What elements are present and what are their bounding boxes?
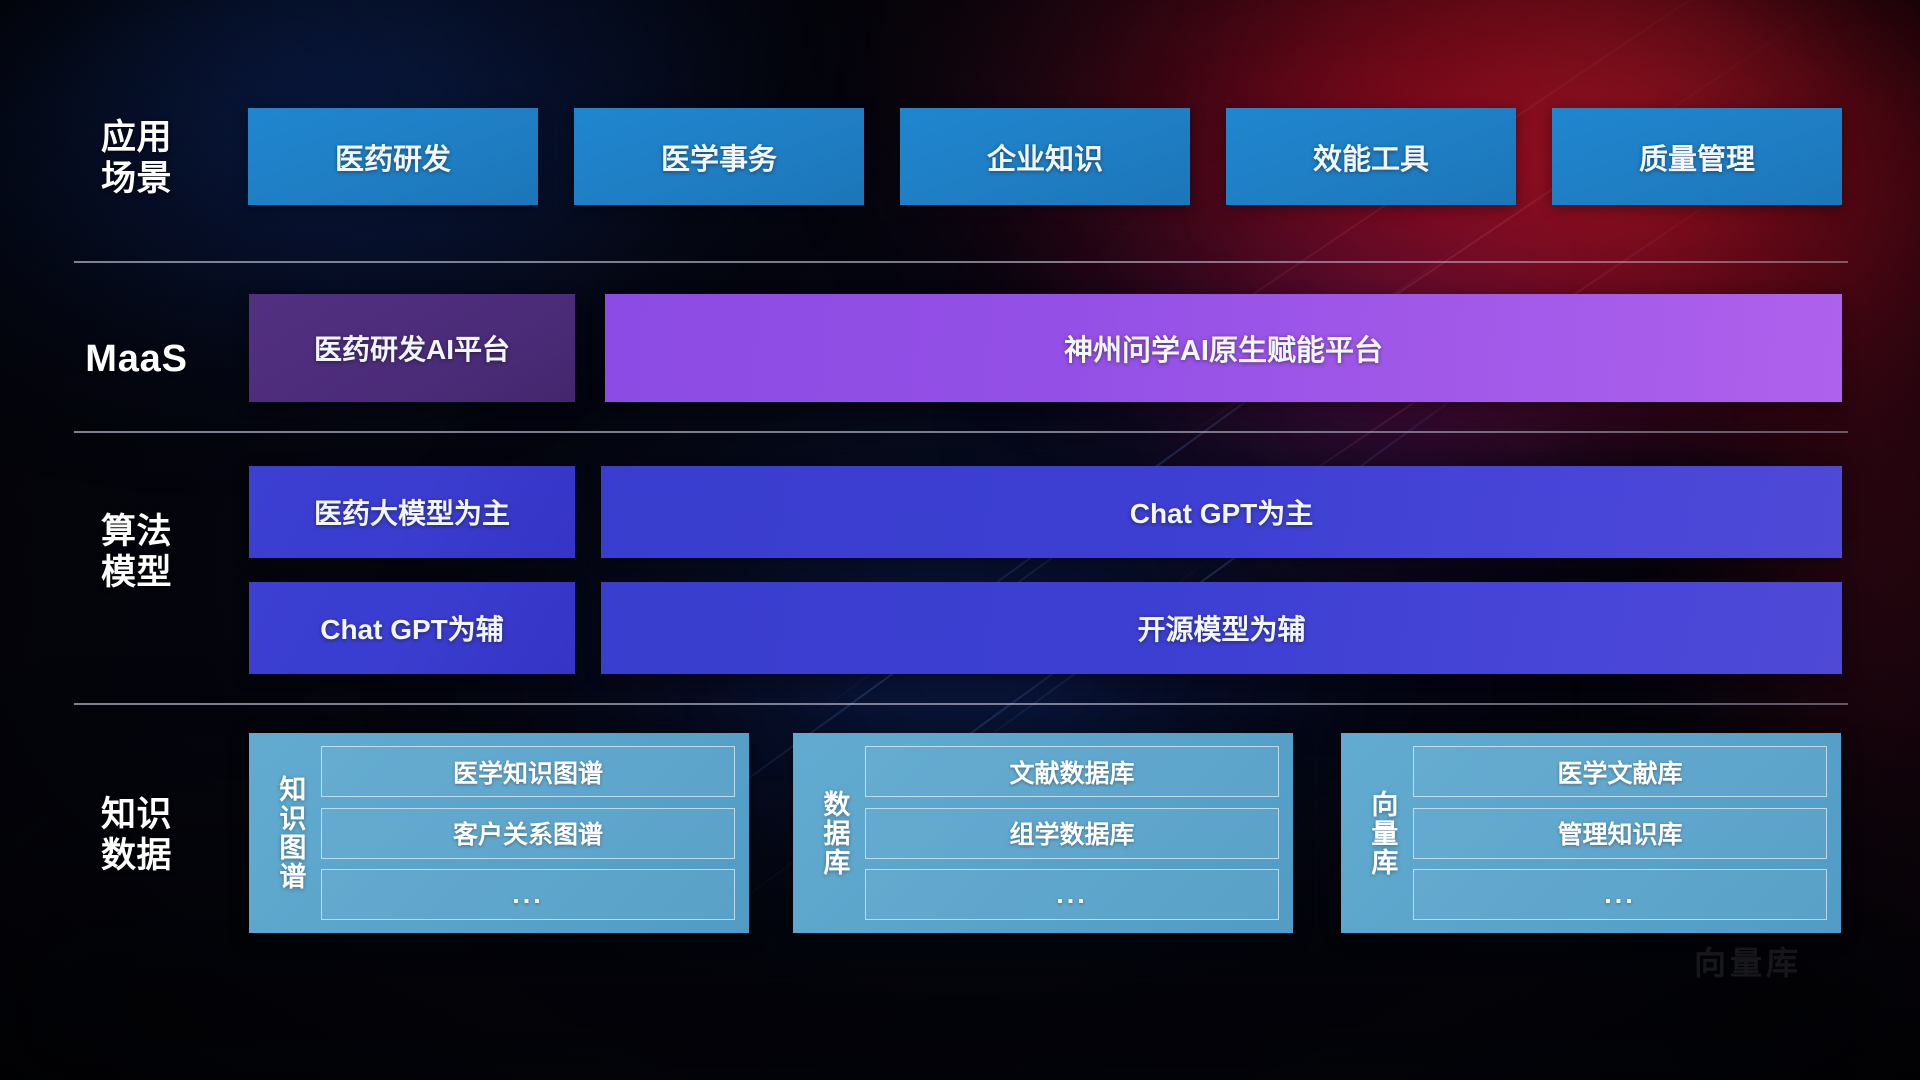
algo-chip-chatgpt-primary[interactable]: Chat GPT为主: [601, 466, 1842, 558]
panel-item[interactable]: 医学知识图谱: [321, 746, 735, 797]
maas-chip-label: 神州问学AI原生赋能平台: [1064, 327, 1383, 369]
panel-item[interactable]: 客户关系图谱: [321, 808, 735, 859]
panel-item[interactable]: 医学文献库: [1413, 746, 1827, 797]
panel-item-more[interactable]: ...: [321, 869, 735, 920]
panel-items: 医学知识图谱 客户关系图谱 ...: [321, 743, 735, 923]
maas-chip-pharma-ai-platform[interactable]: 医药研发AI平台: [249, 294, 575, 402]
app-chip-label: 效能工具: [1313, 136, 1429, 178]
divider-1: [74, 261, 1848, 263]
algo-chip-label: 开源模型为辅: [1137, 608, 1305, 648]
app-chip-4[interactable]: 质量管理: [1552, 108, 1842, 205]
app-chip-label: 医学事务: [661, 136, 777, 178]
panel-items: 医学文献库 管理知识库 ...: [1413, 743, 1827, 923]
panel-label-knowledge-graph: 知识图谱: [259, 743, 321, 923]
panel-label-database: 数据库: [803, 743, 865, 923]
knowledge-panel-database[interactable]: 数据库 文献数据库 组学数据库 ...: [793, 733, 1293, 933]
app-chip-1[interactable]: 医学事务: [574, 108, 864, 205]
algo-chip-chatgpt-secondary[interactable]: Chat GPT为辅: [249, 582, 575, 674]
app-chip-label: 医药研发: [335, 136, 451, 178]
app-chip-3[interactable]: 效能工具: [1226, 108, 1516, 205]
app-chip-label: 企业知识: [987, 136, 1103, 178]
divider-3: [74, 703, 1848, 705]
panel-label-vector-store: 向量库: [1351, 743, 1413, 923]
row-label-knowledge-data: 知识 数据: [74, 795, 199, 876]
knowledge-panel-vector-store[interactable]: 向量库 医学文献库 管理知识库 ...: [1341, 733, 1841, 933]
row-label-maas: MaaS: [74, 337, 199, 381]
panel-items: 文献数据库 组学数据库 ...: [865, 743, 1279, 923]
row-label-application-scenarios: 应用 场景: [74, 118, 199, 199]
panel-item-more[interactable]: ...: [865, 869, 1279, 920]
row-label-algorithm-models: 算法 模型: [74, 512, 199, 593]
row-label-maas-text: MaaS: [85, 338, 187, 380]
divider-2: [74, 431, 1848, 433]
app-chip-label: 质量管理: [1639, 136, 1755, 178]
watermark-text: 向量库: [1694, 938, 1802, 984]
architecture-diagram: 应用 场景 医药研发 医学事务 企业知识 效能工具 质量管理 MaaS 医药研发…: [0, 0, 1920, 1080]
algo-chip-opensource-secondary[interactable]: 开源模型为辅: [601, 582, 1842, 674]
panel-item-more[interactable]: ...: [1413, 869, 1827, 920]
algo-chip-pharma-llm-primary[interactable]: 医药大模型为主: [249, 466, 575, 558]
algo-chip-label: Chat GPT为主: [1130, 492, 1314, 532]
panel-item[interactable]: 管理知识库: [1413, 808, 1827, 859]
algo-chip-label: Chat GPT为辅: [320, 608, 504, 648]
algo-chip-label: 医药大模型为主: [314, 492, 510, 532]
app-chip-2[interactable]: 企业知识: [900, 108, 1190, 205]
panel-item[interactable]: 文献数据库: [865, 746, 1279, 797]
knowledge-panel-knowledge-graph[interactable]: 知识图谱 医学知识图谱 客户关系图谱 ...: [249, 733, 749, 933]
app-chip-0[interactable]: 医药研发: [248, 108, 538, 205]
panel-item[interactable]: 组学数据库: [865, 808, 1279, 859]
maas-chip-shenzhou-wenxue-platform[interactable]: 神州问学AI原生赋能平台: [605, 294, 1842, 402]
maas-chip-label: 医药研发AI平台: [314, 328, 510, 368]
